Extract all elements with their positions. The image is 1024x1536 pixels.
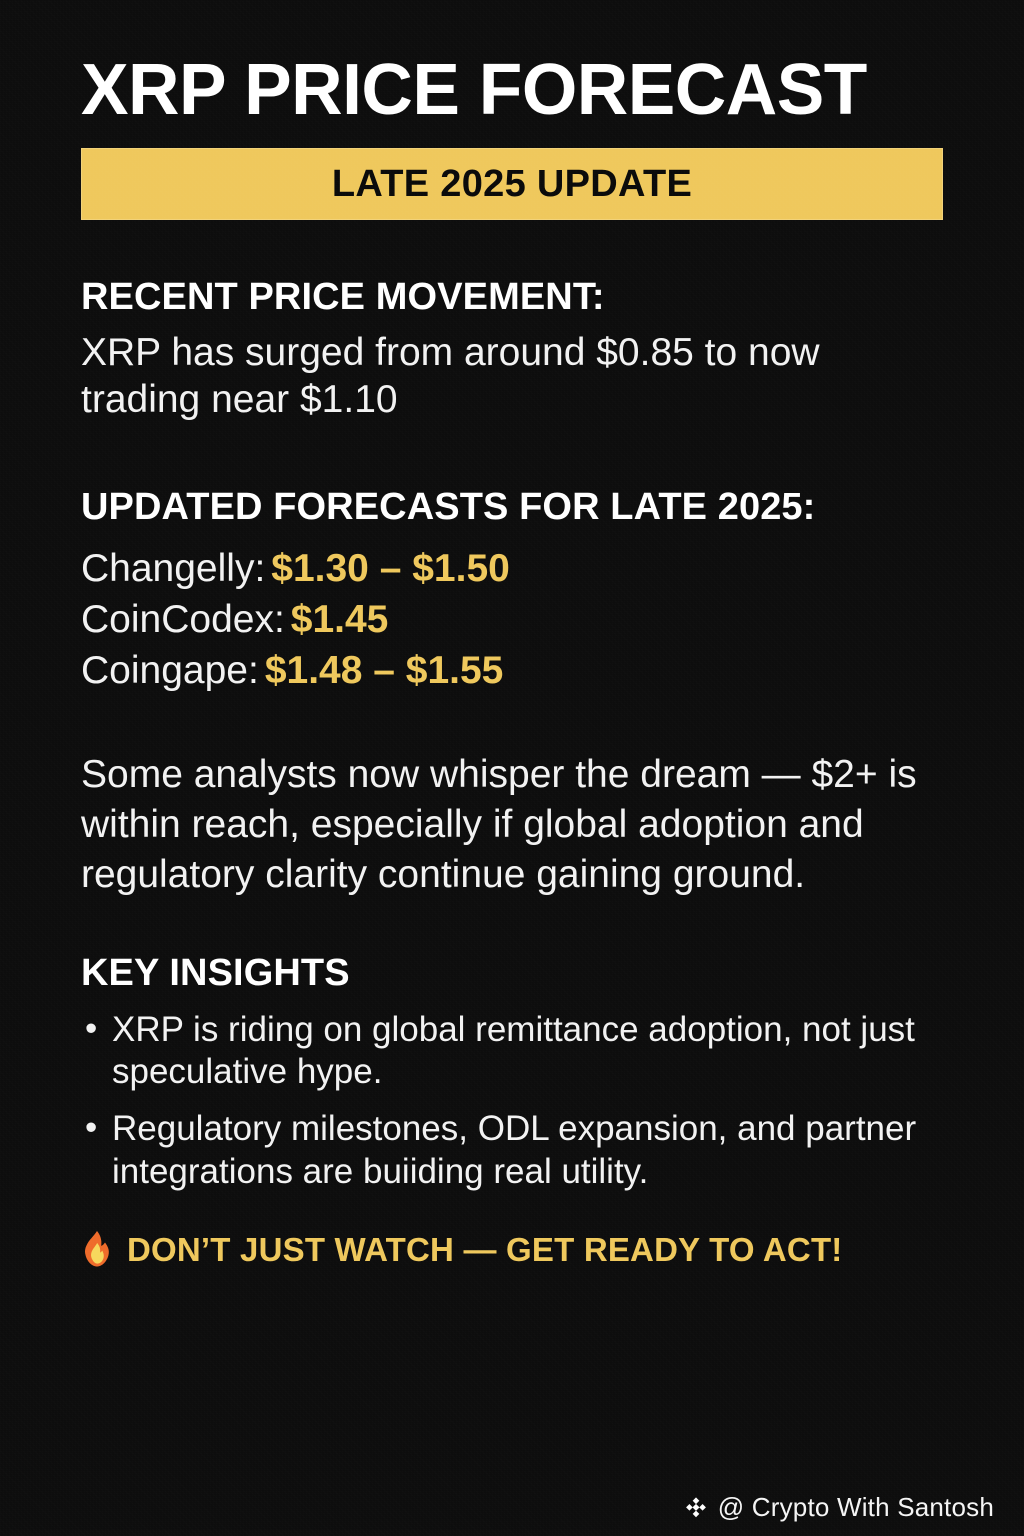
section-heading-key-insights: KEY INSIGHTS <box>81 952 943 995</box>
binance-diamond-icon <box>683 1494 709 1520</box>
cta-label: DON’T JUST WATCH — GET READY TO ACT! <box>127 1233 843 1266</box>
list-item-text: XRP is riding on global remittance adopt… <box>112 1010 915 1092</box>
forecast-source: Changelly: <box>81 547 265 590</box>
forecast-value: $1.30 – $1.50 <box>271 547 510 590</box>
xrp-price-forecast-poster: XRP PRICE FORECAST LATE 2025 UPDATE RECE… <box>0 0 1024 1536</box>
list-item: • Regulatory milestones, ODL expansion, … <box>81 1108 943 1193</box>
subtitle-banner: LATE 2025 UPDATE <box>81 148 943 220</box>
page-title: XRP PRICE FORECAST <box>81 0 934 126</box>
forecast-row: Coingape:$1.48 – $1.55 <box>81 646 943 697</box>
forecast-value: $1.48 – $1.55 <box>265 649 504 692</box>
key-insights-list: • XRP is riding on global remittance ado… <box>81 1009 943 1194</box>
fire-icon <box>81 1231 113 1267</box>
recent-price-movement-body: XRP has surged from around $0.85 to now … <box>81 329 943 424</box>
bullet-icon: • <box>85 1008 97 1051</box>
forecast-source: Coingape: <box>81 649 259 692</box>
forecast-row: Changelly:$1.30 – $1.50 <box>81 544 943 595</box>
list-item-text: Regulatory milestones, ODL expansion, an… <box>112 1109 916 1191</box>
analyst-outlook-paragraph: Some analysts now whisper the dream — $2… <box>81 750 943 900</box>
bullet-icon: • <box>85 1107 97 1150</box>
forecast-row: CoinCodex:$1.45 <box>81 595 943 646</box>
section-heading-recent-price-movement: RECENT PRICE MOVEMENT: <box>81 276 943 319</box>
poster-content: XRP PRICE FORECAST LATE 2025 UPDATE RECE… <box>0 0 1024 1267</box>
forecast-value: $1.45 <box>291 598 389 641</box>
forecast-source: CoinCodex: <box>81 598 285 641</box>
section-heading-updated-forecasts: UPDATED FORECASTS FOR LATE 2025: <box>81 486 943 529</box>
forecast-list: Changelly:$1.30 – $1.50 CoinCodex:$1.45 … <box>81 544 943 696</box>
call-to-action: DON’T JUST WATCH — GET READY TO ACT! <box>81 1231 943 1267</box>
subtitle-banner-label: LATE 2025 UPDATE <box>332 165 692 203</box>
watermark: @ Crypto With Santosh <box>683 1494 994 1520</box>
list-item: • XRP is riding on global remittance ado… <box>81 1009 943 1094</box>
watermark-handle: @ Crypto With Santosh <box>718 1494 994 1520</box>
